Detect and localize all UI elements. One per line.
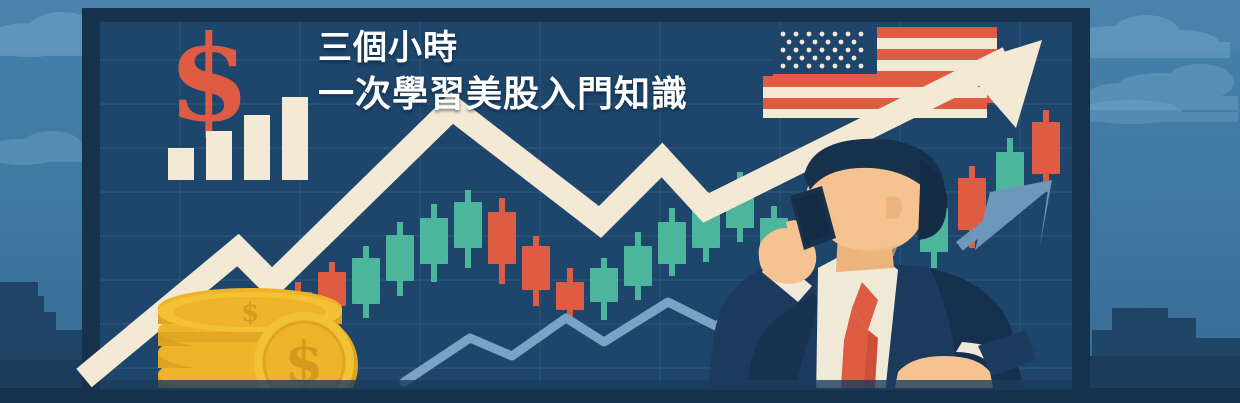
ground-strip [0,0,1240,403]
stock-market-banner: $ [0,0,1240,403]
